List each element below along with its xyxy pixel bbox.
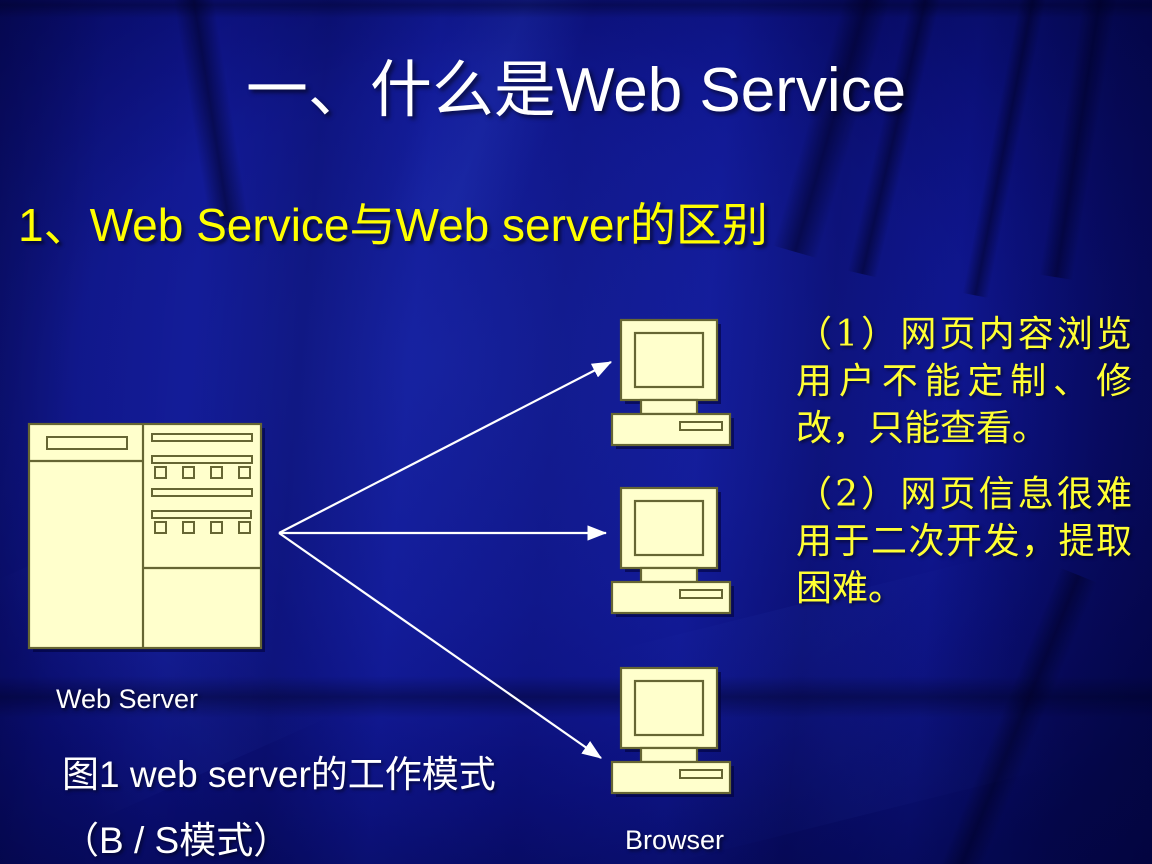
web-server-label: Web Server	[56, 684, 198, 715]
figure-caption-line-1: 图1 web server的工作模式	[62, 744, 496, 798]
bullet-point-1: （1）网页内容浏览用户不能定制、修改，只能查看。	[796, 312, 1132, 452]
slide-subtitle: 1、Web Service与Web server的区别	[18, 200, 768, 251]
bullet-point-2: （2）网页信息很难用于二次开发，提取困难。	[796, 472, 1132, 612]
slide-title: 一、什么是Web Service	[0, 58, 1152, 123]
figure-caption-line-2: （B / S模式）	[62, 810, 290, 864]
presentation-slide: 一、什么是Web Service 1、Web Service与Web serve…	[0, 0, 1152, 864]
browser-label: Browser	[625, 825, 724, 856]
